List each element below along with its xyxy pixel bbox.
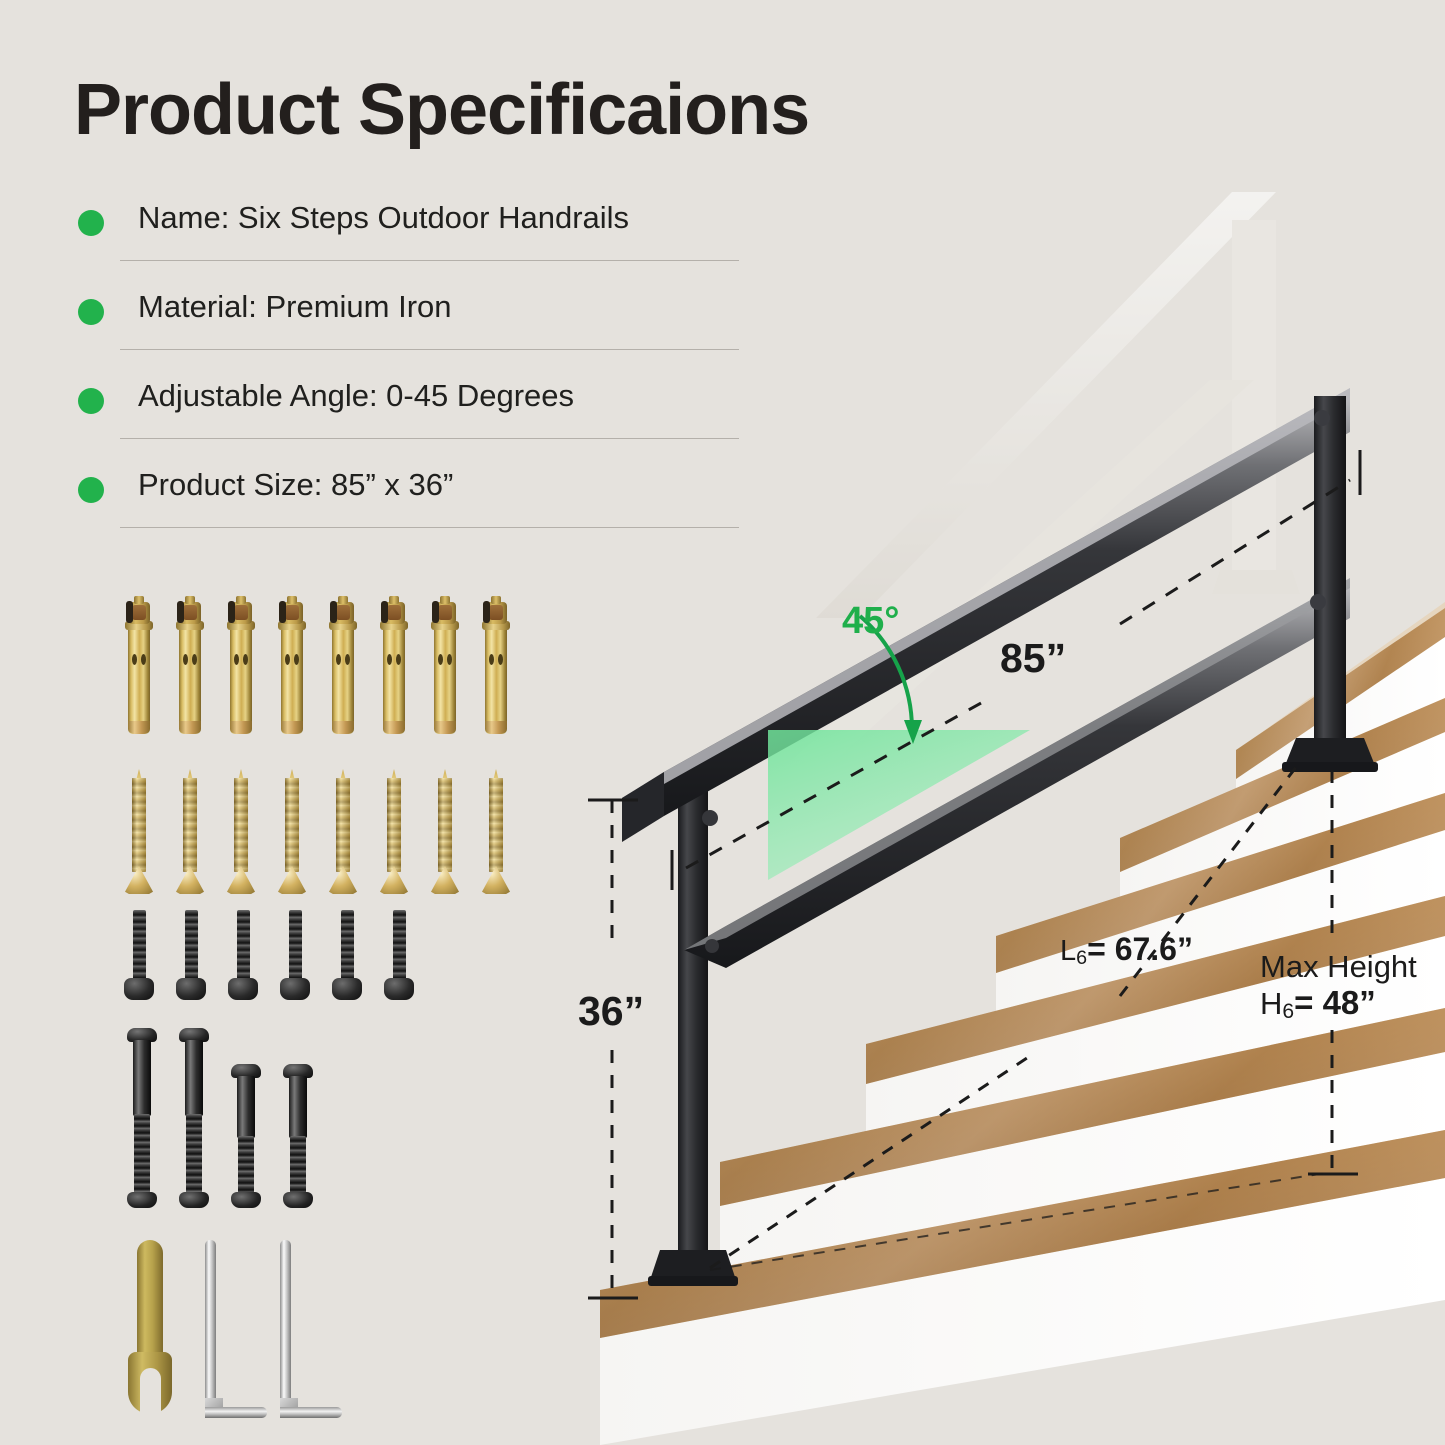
- machine-screw: [124, 910, 154, 1006]
- max-height-label: Max Height H6= 48”: [1260, 950, 1417, 1022]
- shoulder-bolt: [282, 1064, 314, 1210]
- tread-run-value: = 67.6”: [1087, 931, 1193, 967]
- rail-bracket: [702, 810, 718, 826]
- machine-screw: [332, 910, 362, 1006]
- wrench-icon: [128, 1240, 172, 1418]
- left-post-base: [650, 1250, 736, 1280]
- height-dimension-label: 36”: [578, 988, 644, 1035]
- machine-screw: [384, 910, 414, 1006]
- rail-bracket: [1314, 410, 1330, 426]
- max-height-prefix: H: [1260, 986, 1282, 1021]
- shoulder-bolt: [230, 1064, 262, 1210]
- shoulder-bolt: [178, 1028, 210, 1210]
- anchor-bolt: [228, 592, 254, 734]
- shoulder-bolt: [126, 1028, 158, 1210]
- anchor-bolt: [177, 592, 203, 734]
- machine-screw: [228, 910, 258, 1006]
- wood-screw: [176, 778, 204, 898]
- wood-screw: [380, 778, 408, 898]
- machine-screw: [280, 910, 310, 1006]
- rail-bracket: [705, 939, 719, 953]
- max-height-value: = 48”: [1294, 984, 1376, 1021]
- max-height-title: Max Height: [1260, 950, 1417, 985]
- anchor-bolt: [279, 592, 305, 734]
- product-spec-page: Product Specificaions Name: Six Steps Ou…: [0, 0, 1445, 1445]
- anchor-bolt: [432, 592, 458, 734]
- anchor-bolt: [330, 592, 356, 734]
- wood-screw: [482, 778, 510, 898]
- right-post: [1314, 396, 1346, 748]
- max-height-sub: 6: [1282, 1000, 1294, 1023]
- wood-screw: [278, 778, 306, 898]
- wood-screw: [125, 778, 153, 898]
- rail-end-cap: [622, 772, 664, 842]
- hardware-parts-group: [0, 0, 560, 1445]
- anchor-bolt: [381, 592, 407, 734]
- anchor-bolt: [126, 592, 152, 734]
- max-height-value-row: H6= 48”: [1260, 985, 1417, 1022]
- tread-run-prefix: L: [1060, 935, 1076, 967]
- wood-screw: [329, 778, 357, 898]
- wood-screw: [431, 778, 459, 898]
- tread-run-sub: 6: [1076, 947, 1087, 969]
- product-diagram: 36” 85” 45° L6= 67.6” Max Height H6= 48”: [560, 150, 1445, 1445]
- rail-bracket: [1310, 594, 1326, 610]
- length-dimension-label: 85”: [1000, 635, 1066, 682]
- allen-key-icon: [280, 1240, 342, 1418]
- anchor-bolt: [483, 592, 509, 734]
- machine-screw: [176, 910, 206, 1006]
- wood-screw: [227, 778, 255, 898]
- left-post: [678, 790, 708, 1260]
- angle-dimension-label: 45°: [842, 600, 899, 643]
- tread-run-label: L6= 67.6”: [1060, 931, 1193, 968]
- allen-key-icon: [205, 1240, 267, 1418]
